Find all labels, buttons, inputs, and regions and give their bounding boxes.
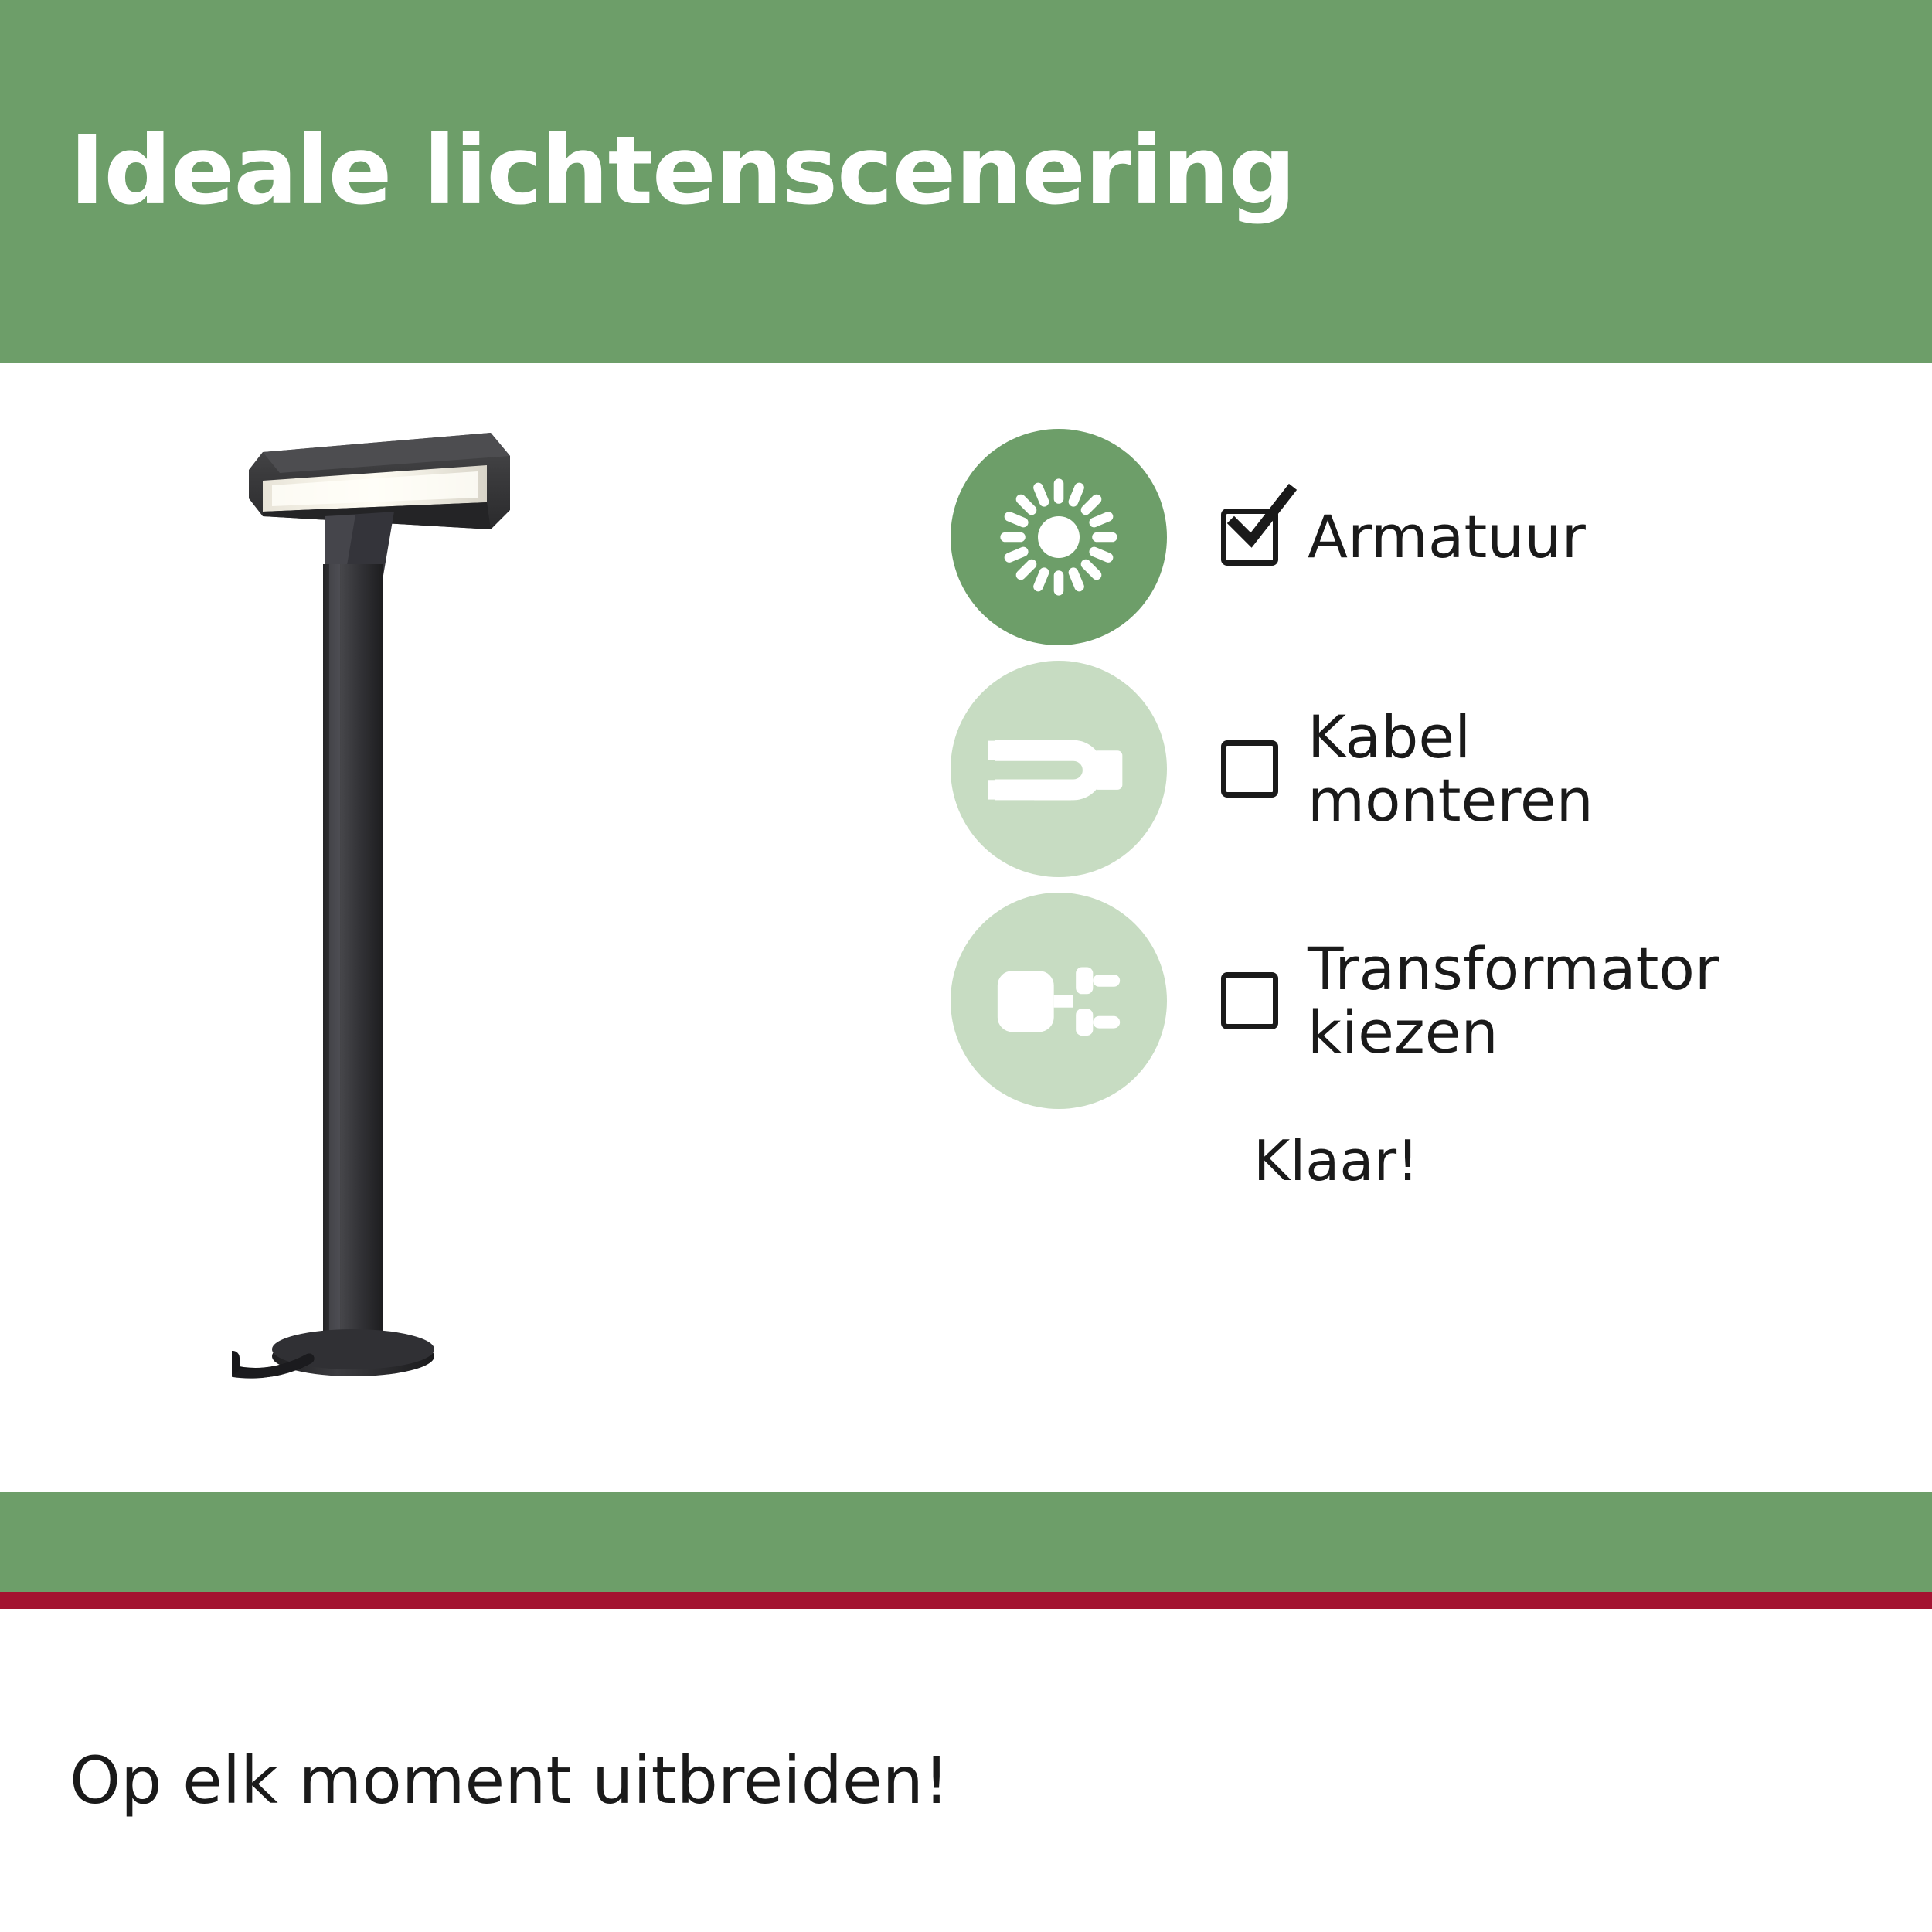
footer-green-band — [0, 1492, 1932, 1592]
footer-red-divider — [0, 1592, 1932, 1609]
sun-icon — [951, 429, 1167, 645]
checkbox-armatuur[interactable] — [1221, 509, 1278, 566]
sun-icon-glyph — [989, 468, 1128, 607]
plug-icon-glyph — [985, 947, 1132, 1055]
checkbox-kabel[interactable] — [1221, 740, 1278, 798]
checkbox-transformator[interactable] — [1221, 972, 1278, 1029]
installation-checklist: Armatuur Kabel monteren — [951, 433, 1878, 1193]
checklist-item-transformator[interactable]: Transformator kiezen — [951, 896, 1878, 1105]
bollard-light-illustration — [232, 410, 773, 1414]
checklist-label-kabel: Kabel monteren — [1308, 706, 1594, 832]
plug-icon — [951, 893, 1167, 1109]
checklist-label-armatuur: Armatuur — [1308, 505, 1586, 569]
main-content: Armatuur Kabel monteren — [0, 363, 1932, 1492]
done-label: Klaar! — [1253, 1128, 1878, 1193]
cable-icon — [951, 661, 1167, 877]
checklist-item-armatuur[interactable]: Armatuur — [951, 433, 1878, 641]
checklist-label-transformator: Transformator kiezen — [1308, 937, 1719, 1064]
cable-icon-glyph — [985, 711, 1132, 827]
header-band: Ideale lichtenscenering — [0, 0, 1932, 363]
footer-text: Op elk moment uitbreiden! — [70, 1743, 950, 1818]
product-image — [232, 410, 773, 1414]
checklist-item-kabel[interactable]: Kabel monteren — [951, 665, 1878, 873]
check-icon — [1222, 480, 1299, 557]
page-title: Ideale lichtenscenering — [70, 116, 1295, 226]
